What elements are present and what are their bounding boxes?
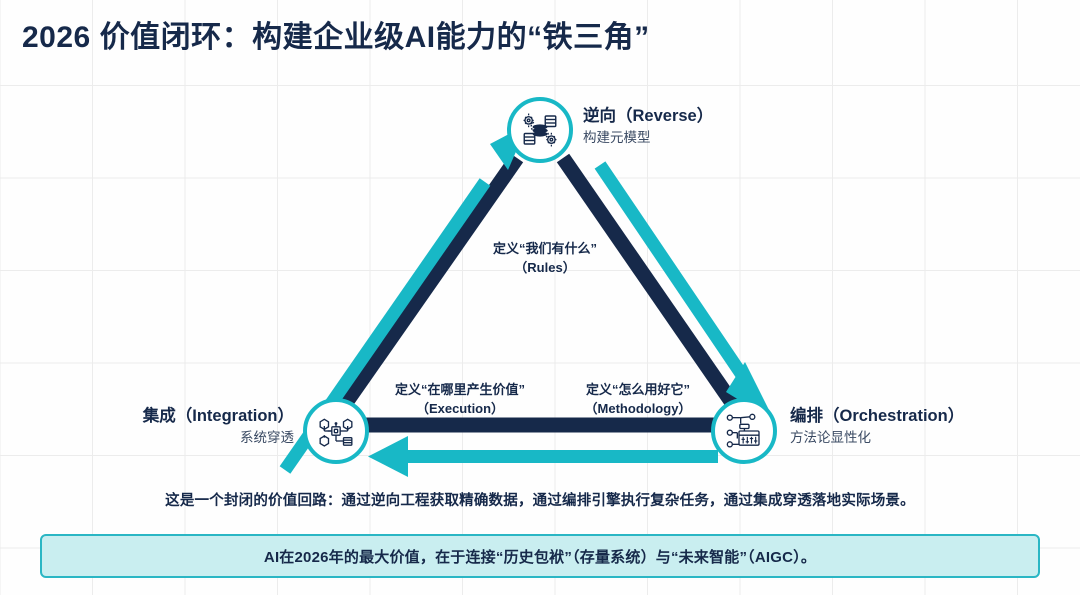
network-nodes-icon (316, 411, 356, 451)
page-title: 2026 价值闭环：构建企业级AI能力的“铁三角” (22, 18, 650, 58)
node-title-integration: 集成（Integration） (16, 405, 294, 427)
callout-text: AI在2026年的最大价值，在于连接“历史包袱”（存量系统）与“未来智能”（AI… (264, 546, 816, 567)
workflow-control-panel-icon (724, 411, 764, 451)
edge-label-methodology-line1: 定义“怎么用好它” (563, 381, 713, 400)
summary-text: 这是一个封闭的价值回路：通过逆向工程获取精确数据，通过编排引擎执行复杂任务，通过… (0, 489, 1080, 510)
node-title-reverse: 逆向（Reverse） (583, 105, 713, 127)
gears-database-icon (519, 109, 561, 151)
callout-box: AI在2026年的最大价值，在于连接“历史包袱”（存量系统）与“未来智能”（AI… (40, 534, 1040, 578)
edge-label-rules: 定义“我们有什么” （Rules） (455, 240, 635, 278)
node-subtitle-integration: 系统穿透 (16, 429, 294, 447)
edge-label-rules-line2: （Rules） (455, 259, 635, 278)
node-label-orchestration: 编排（Orchestration） 方法论显性化 (790, 405, 964, 447)
node-subtitle-orchestration: 方法论显性化 (790, 429, 964, 447)
node-orchestration[interactable] (711, 398, 777, 464)
node-title-orchestration: 编排（Orchestration） (790, 405, 964, 427)
arrow-orchestration-to-integration (368, 436, 718, 477)
edge-label-execution-line2: （Execution） (375, 400, 545, 419)
edge-label-execution-line1: 定义“在哪里产生价值” (375, 381, 545, 400)
navy-edge-right (563, 158, 733, 404)
navy-edge-left (345, 158, 517, 404)
node-integration[interactable] (303, 398, 369, 464)
slide-canvas: 2026 价值闭环：构建企业级AI能力的“铁三角” (0, 0, 1080, 595)
edge-label-methodology: 定义“怎么用好它” （Methodology） (563, 381, 713, 419)
node-label-integration: 集成（Integration） 系统穿透 (16, 405, 294, 447)
node-label-reverse: 逆向（Reverse） 构建元模型 (583, 105, 713, 147)
edge-label-rules-line1: 定义“我们有什么” (455, 240, 635, 259)
edge-label-methodology-line2: （Methodology） (563, 400, 713, 419)
node-subtitle-reverse: 构建元模型 (583, 129, 713, 147)
node-reverse[interactable] (507, 97, 573, 163)
edge-label-execution: 定义“在哪里产生价值” （Execution） (375, 381, 545, 419)
